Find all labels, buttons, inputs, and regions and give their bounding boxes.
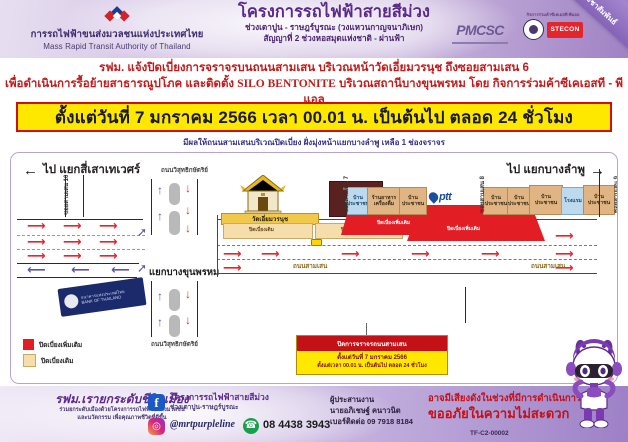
apology-line-2: ขออภัยในความไม่สะดวก [428, 405, 568, 422]
bot-garuda-seal-icon [63, 293, 79, 309]
phone-icon: ☎ [243, 418, 259, 434]
infobox-line-1: ตั้งแต่วันที่ 7 มกราคม 2566 [299, 354, 445, 362]
direction-right-label: ไป แยกบางลำพู [507, 161, 585, 179]
arrow-right-red-e4: ⟶ [411, 249, 430, 259]
agency-identity: การรถไฟฟ้าขนส่งมวลชนแห่งประเทศไทย Mass R… [8, 4, 226, 52]
road-label-visut-bottom: ถนนวิสุทธิกษัตริย์ [151, 339, 198, 349]
arrow-merge-blue-2: ➚ [137, 263, 147, 273]
instagram-icon[interactable]: ◎ [148, 418, 165, 435]
arrow-up-blue-3: ↑ [157, 291, 163, 301]
arrow-right-red-w2: ⟶ [63, 221, 82, 231]
effective-period-text: ตั้งแต่วันที่ 7 มกราคม 2566 เวลา 00.01 น… [55, 104, 573, 131]
legend-label-0: ปิดเบี่ยงเพิ่มเติม [39, 340, 82, 350]
arrow-right-red-e9: ⟶ [555, 263, 574, 273]
legend-swatch-red [23, 339, 34, 350]
junction-label-bang-khun-phrom: แยกบางขุนพรหม [149, 265, 219, 280]
arrow-right-red-w8: ⟶ [63, 251, 82, 261]
mrta-diamond-logo-icon [94, 4, 140, 28]
infobox-header: ปิดการจราจรถนนสามเสน [297, 336, 447, 351]
announcement-text: รฟม. แจ้งปิดเบี่ยงการจราจรบนถนนสามเสน บร… [0, 60, 628, 108]
road-label-soi-samsen-9: ซอยสามเสน 9 [611, 176, 618, 213]
traffic-diversion-map: ← ไป แยกสี่เสาเทเวศร์ ไป แยกบางลำพู → ถน… [10, 152, 618, 384]
direction-left-label: ไป แยกสี่เสาเทเวศร์ [43, 161, 140, 179]
arrow-left-blue-w2: ⟵ [71, 265, 90, 275]
project-subtitle-1: ช่วงเตาปูน - ราษฎร์บูรณะ (วงแหวนกาญจนาภิ… [226, 22, 442, 33]
arrow-right-red-w5: ⟶ [63, 237, 82, 247]
announcement-line-1: รฟม. แจ้งปิดเบี่ยงการจราจรบนถนนสามเสน บร… [0, 60, 628, 76]
contractor-logos: PMCSC กิจการร่วมค้าซีเคเอสที-พีแอล STECO… [452, 8, 592, 50]
poster-header: การรถไฟฟ้าขนส่งมวลชนแห่งประเทศไทย Mass R… [0, 0, 628, 58]
arrow-left-blue-w1: ⟵ [27, 265, 46, 275]
agency-name-en: Mass Rapid Transit Authority of Thailand [8, 41, 226, 52]
infobox-line-2: ตั้งแต่เวลา 00.01 น. เป็นต้นไป ตลอด 24 ช… [299, 362, 445, 370]
coordinator-label: ผู้ประสานงาน [330, 394, 413, 405]
announcement-poster: การรถไฟฟ้าขนส่งมวลชนแห่งประเทศไทย Mass R… [0, 0, 628, 442]
arrow-left-blue-w3: ⟵ [111, 265, 130, 275]
arrow-up-blue-1: ↑ [157, 185, 163, 195]
arrow-right-red-e5: ⟶ [481, 249, 500, 259]
ckst-pl-logo-group: กิจการร่วมค้าซีเคเอสที-พีแอล STECON [514, 12, 592, 46]
building-2: บ้าน ประชาชน [399, 187, 427, 215]
arrow-down-red-1: ↓ [185, 183, 191, 193]
coordinator-phone: เบอร์ติดต่อ 09 7918 8184 [330, 416, 413, 427]
pmcsc-logo: PMCSC [452, 20, 508, 44]
arrow-right-red-e3: ⟶ [341, 249, 360, 259]
project-subtitle-2: สัญญาที่ 2 ช่วงหอสมุดแห่งชาติ - ผ่านฟ้า [226, 33, 442, 44]
marker-tiny-yellow [311, 239, 322, 246]
closure-old-label-1: ปิดเบี่ยงเดิม [249, 226, 274, 234]
contact-phone-number[interactable]: 08 4438 3943 [263, 419, 330, 431]
arrow-right-red-w6: ⟶ [99, 237, 118, 247]
agency-name-th: การรถไฟฟ้าขนส่งมวลชนแห่งประเทศไทย [8, 29, 226, 41]
arrow-right-red-e2: ⟶ [261, 249, 280, 259]
building-label-6: บ้าน ประชาชน [530, 194, 562, 206]
apology-block: อาจมีเสียงดังในช่วงที่มีการดำเนินการ ขออ… [428, 392, 568, 422]
map-legend: ปิดเบี่ยงเพิ่มเติม ปิดเบี่ยงเดิม [23, 339, 82, 371]
arrow-right-red-e8: ⟶ [555, 231, 574, 241]
legend-item-0: ปิดเบี่ยงเพิ่มเติม [23, 339, 82, 350]
thai-temple-icon [239, 175, 287, 215]
project-title: โครงการรถไฟฟ้าสายสีม่วง [226, 2, 442, 22]
direction-to-si-sao-thewet: ← ไป แยกสี่เสาเทเวศร์ [23, 161, 140, 179]
road-label-soi-samsen-7: ซอยสามเสน 7 [341, 176, 351, 213]
project-identity: โครงการรถไฟฟ้าสายสีม่วง ช่วงเตาปูน - ราษ… [226, 2, 442, 44]
facebook-page[interactable]: โครงการรถไฟฟ้าสายสีม่วง ช่วงเตาปูน-ราษฎร… [170, 392, 269, 412]
stecon-label: STECON [551, 26, 580, 33]
poster-footer: รฟม.เรายกระดับชีวิตเมือง ร่วมยกระดับเมือ… [0, 386, 628, 442]
purple-robot-mascot-icon [565, 336, 623, 428]
arrow-merge-blue-1: ➚ [137, 227, 147, 237]
ckst-pl-caption: กิจการร่วมค้าซีเคเอสที-พีแอล [514, 12, 592, 18]
coordinator-block: ผู้ประสานงาน นายอภิเชษฐ์ คนาวนิต เบอร์ติ… [330, 394, 413, 427]
road-label-visut-top: ถนนวิสุทธิกษัตริย์ [161, 165, 208, 175]
facebook-page-line-1: โครงการรถไฟฟ้าสายสีม่วง [170, 392, 269, 403]
instagram-handle[interactable]: @mrtpurpleline [170, 419, 235, 430]
median-island-bottom-1 [169, 289, 180, 311]
legend-swatch-cream [23, 354, 36, 367]
arrow-right-red-w3: ⟶ [99, 221, 118, 231]
building-5: บ้าน ประชาชน [507, 187, 531, 215]
building-7: โรงแรม [561, 187, 585, 215]
arrow-right-red-e6: ⟶ [555, 249, 574, 259]
arrow-right-red-w9: ⟶ [99, 251, 118, 261]
building-label-5: บ้าน ประชาชน [508, 195, 530, 207]
closure-infobox: ปิดการจราจรถนนสามเสน ตั้งแต่วันที่ 7 มกร… [296, 335, 448, 375]
road-label-soi-samsen-10: ซอยสามเสน 10 [61, 175, 71, 215]
effective-period-banner: ตั้งแต่วันที่ 7 มกราคม 2566 เวลา 00.01 น… [16, 102, 612, 132]
arrow-right-red-w7: ⟶ [27, 251, 46, 261]
building-6: บ้าน ประชาชน [529, 185, 563, 215]
closure-new-label-1: ปิดเบี่ยงเพิ่มเติม [377, 219, 410, 227]
document-id: TF-C2-00002 [470, 430, 509, 437]
direction-to-bang-lamphu: ไป แยกบางลำพู → [507, 161, 605, 179]
arrow-right-red-w4: ⟶ [27, 237, 46, 247]
building-label-7: โรงแรม [564, 198, 582, 204]
median-island-top-2 [169, 211, 180, 235]
road-label-soi-samsen-8: ซอยสามเสน 8 [477, 176, 487, 213]
facebook-page-line-2: ช่วงเตาปูน-ราษฎร์บูรณะ [170, 403, 269, 412]
legend-label-1: ปิดเบี่ยงเดิม [41, 356, 73, 366]
median-island-top-1 [169, 183, 180, 205]
building-label-1: ร้านอาหาร เครื่องดื่ม [368, 195, 400, 207]
apology-line-1: อาจมีเสียงดังในช่วงที่มีการดำเนินการ [428, 392, 568, 405]
median-island-bottom-2 [169, 315, 180, 337]
arrow-left-icon: ← [23, 165, 38, 176]
arrow-right-icon: → [590, 165, 605, 176]
arrow-up-blue-2: ↑ [157, 211, 163, 221]
arrow-right-red-e7: ⟶ [223, 263, 242, 273]
building-label-4: บ้าน ประชาชน [484, 195, 508, 207]
arrow-down-red-2: ↓ [185, 205, 191, 215]
closure-new-label-2: ปิดเบี่ยงเพิ่มเติม [447, 225, 480, 233]
bank-of-thailand-sign: ธนาคารแห่งประเทศไทย BANK OF THAILAND [57, 277, 146, 317]
arrow-down-red-4: ↓ [185, 289, 191, 299]
building-label-2: บ้าน ประชาชน [400, 195, 426, 207]
silo-bentonite-term: SILO BENTONITE [237, 78, 336, 90]
facebook-icon[interactable]: f [148, 394, 165, 411]
ck-seal-icon [523, 19, 544, 40]
ptt-label: ptt [439, 191, 451, 203]
ptt-gas-station: ptt [429, 191, 451, 203]
road-label-samsen-mid: ถนนสามเสน [293, 261, 327, 271]
legend-item-1: ปิดเบี่ยงเดิม [23, 354, 82, 367]
arrow-right-red-w1: ⟶ [27, 221, 46, 231]
arrow-right-red-e1: ⟶ [223, 249, 242, 259]
arrow-down-red-5: ↓ [185, 315, 191, 325]
arrow-down-red-3: ↓ [185, 223, 191, 233]
announcement-subnote: มีผลให้ถนนสามเสนบริเวณปิดเบี่ยง ฝั่งมุ่ง… [0, 136, 628, 149]
announcement-line-2a: เพื่อดำเนินการรื้อย้ายสาธารณูปโภค และติด… [5, 78, 237, 90]
stecon-logo-icon: STECON [547, 22, 583, 38]
arrow-up-blue-4: ↑ [157, 317, 163, 327]
coordinator-name: นายอภิเชษฐ์ คนาวนิต [330, 405, 413, 416]
building-1: ร้านอาหาร เครื่องดื่ม [367, 187, 401, 215]
